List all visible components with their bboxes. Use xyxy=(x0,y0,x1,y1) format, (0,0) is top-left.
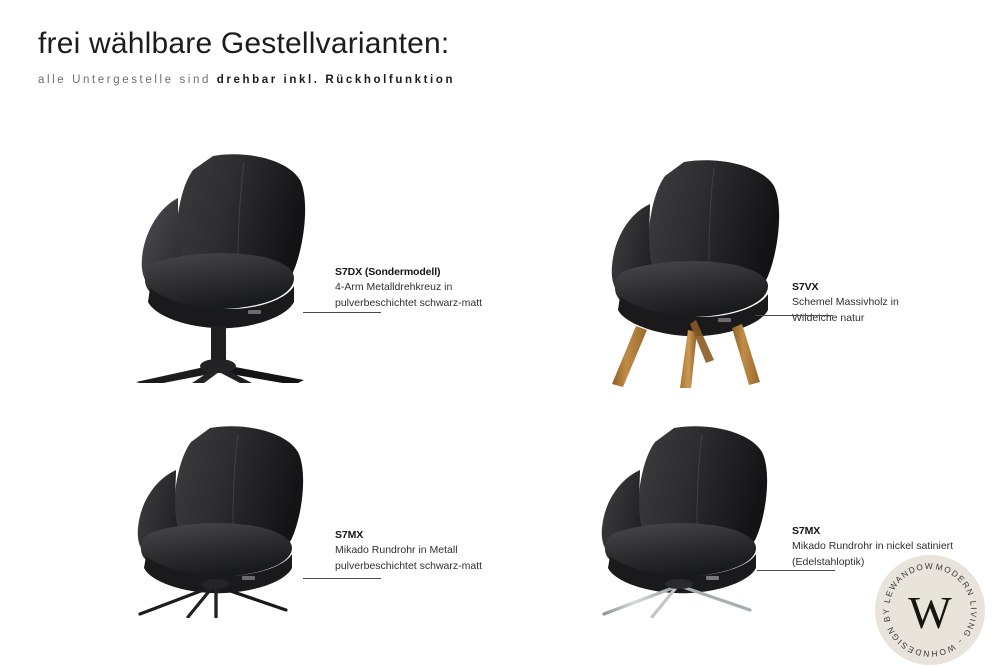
chair-illustration-s7mx-nickel xyxy=(578,418,798,618)
brand-tag xyxy=(242,576,255,580)
chair-illustration-s7dx xyxy=(118,138,338,383)
product-code-s7dx: S7DX (Sondermodell) xyxy=(335,265,575,279)
product-photo-s7mx-nickel xyxy=(578,418,798,618)
catalog-page: frei wählbare Gestellvarianten: alle Unt… xyxy=(0,0,1000,666)
subtitle-bold-text: drehbar inkl. Rückholfunktion xyxy=(217,74,455,86)
product-desc-s7dx-line1: 4-Arm Metalldrehkreuz in xyxy=(335,280,575,295)
brand-tag xyxy=(248,310,261,314)
product-desc-s7dx-line2: pulverbeschichtet schwarz-matt xyxy=(335,296,575,311)
caption-s7vx: S7VX Schemel Massivholz in Wildeiche nat… xyxy=(792,280,1000,327)
leader-rule-s7vx xyxy=(755,315,833,316)
product-desc-s7mx-black-line2: pulverbeschichtet schwarz-matt xyxy=(335,559,575,574)
product-code-s7mx-nickel: S7MX xyxy=(792,524,1000,538)
page-subtitle: alle Untergestelle sind drehbar inkl. Rü… xyxy=(38,74,738,86)
product-code-s7vx: S7VX xyxy=(792,280,1000,294)
page-title: frei wählbare Gestellvarianten: xyxy=(38,26,738,62)
product-desc-s7mx-black-line1: Mikado Rundrohr in Metall xyxy=(335,543,575,558)
caption-s7mx-black: S7MX Mikado Rundrohr in Metall pulverbes… xyxy=(335,528,575,575)
product-desc-s7mx-nickel-line1: Mikado Rundrohr in nickel satiniert xyxy=(792,539,1000,554)
page-header: frei wählbare Gestellvarianten: alle Unt… xyxy=(38,26,738,86)
chair-illustration-s7mx-black xyxy=(118,418,338,618)
product-code-s7mx-black: S7MX xyxy=(335,528,575,542)
badge-svg: MODERN LIVING - WOHNDESIGN BY LEWANDOWSK… xyxy=(874,554,986,666)
badge-monogram: W xyxy=(908,587,952,638)
brand-tag xyxy=(706,576,719,580)
leader-rule-s7mx-nickel xyxy=(757,570,835,571)
product-desc-s7vx-line1: Schemel Massivholz in xyxy=(792,295,1000,310)
product-photo-s7vx xyxy=(592,148,812,388)
product-photo-s7mx-black xyxy=(118,418,338,618)
leader-rule-s7mx-black xyxy=(303,578,381,579)
leader-rule-s7dx xyxy=(303,312,381,313)
chair-illustration-s7vx xyxy=(592,148,812,388)
chair-base-four-arm-star xyxy=(136,359,304,383)
product-photo-s7dx xyxy=(118,138,338,383)
subtitle-light-text: alle Untergestelle sind xyxy=(38,74,217,86)
caption-s7dx: S7DX (Sondermodell) 4-Arm Metalldrehkreu… xyxy=(335,265,575,312)
brand-watermark-badge: MODERN LIVING - WOHNDESIGN BY LEWANDOWSK… xyxy=(874,554,986,666)
brand-tag xyxy=(718,318,731,322)
product-desc-s7vx-line2: Wildeiche natur xyxy=(792,311,1000,326)
